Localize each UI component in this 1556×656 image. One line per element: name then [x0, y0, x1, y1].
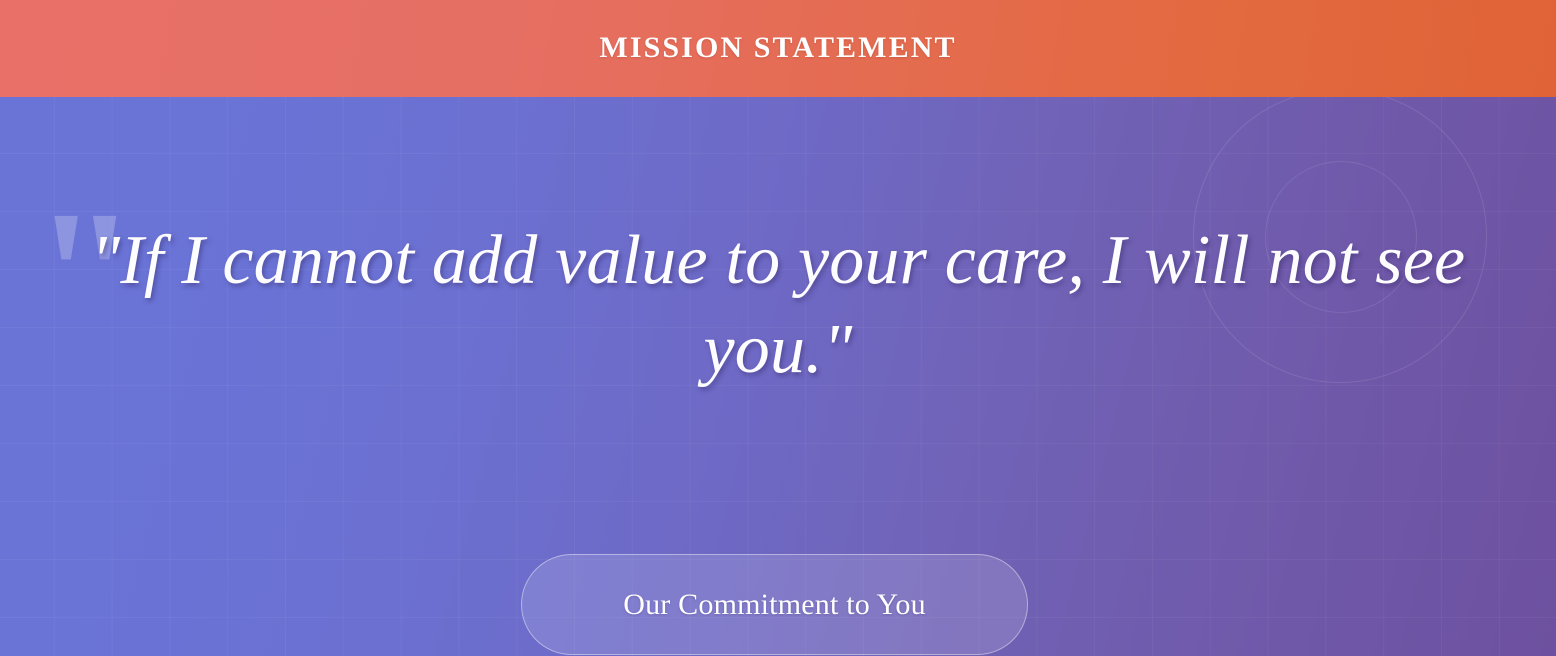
our-commitment-button[interactable]: Our Commitment to You — [521, 554, 1028, 655]
mission-quote-text: "If I cannot add value to your care, I w… — [68, 216, 1488, 394]
page-title: MISSION STATEMENT — [599, 33, 956, 63]
header-band: MISSION STATEMENT — [0, 0, 1556, 97]
our-commitment-button-label: Our Commitment to You — [623, 590, 926, 620]
hero-section: " "If I cannot add value to your care, I… — [0, 97, 1556, 656]
mission-statement-banner: MISSION STATEMENT " "If I cannot add val… — [0, 0, 1556, 656]
